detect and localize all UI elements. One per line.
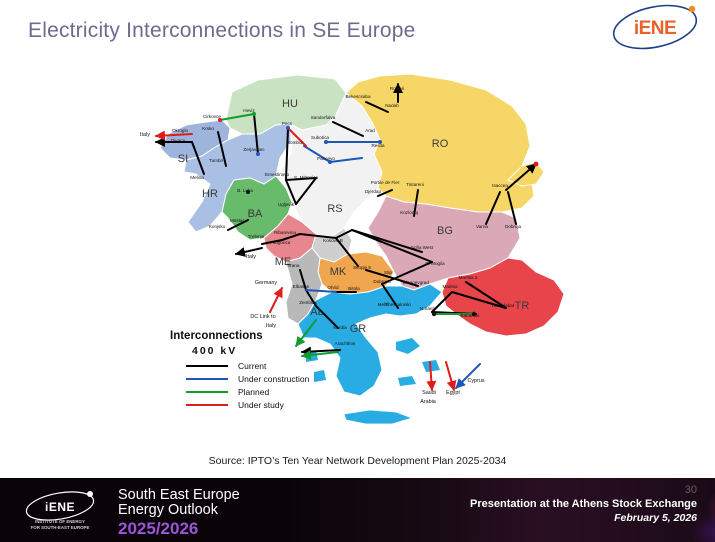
- map-legend: Interconnections 400 kV CurrentUnder con…: [170, 330, 320, 411]
- city-label-45: Babaeski: [461, 313, 480, 318]
- source-note: Source: IPTO’s Ten Year Network Developm…: [0, 455, 715, 467]
- city-label-34: Kosovo B: [323, 238, 343, 243]
- country-label-mk: MK: [330, 266, 347, 278]
- city-label-43: Hamidabat: [492, 303, 515, 308]
- city-label-50: Zemblak: [299, 300, 317, 305]
- legend-row-under-construction: Under construction: [170, 372, 320, 385]
- country-gr-island-3: [398, 376, 416, 386]
- city-label-7: Melina: [190, 175, 204, 180]
- svg-text:iENE: iENE: [634, 18, 676, 39]
- external-label-7: Egypt: [446, 390, 460, 396]
- country-label-al: AL: [310, 306, 323, 318]
- city-label-37: Dubrovo: [373, 279, 391, 284]
- city-label-44: N.Santa: [420, 306, 437, 311]
- city-label-35: Skopje 5: [353, 265, 371, 270]
- country-label-rs: RS: [327, 203, 342, 215]
- country-gr-crete: [344, 410, 412, 424]
- city-label-48: Tirana: [287, 263, 300, 268]
- footer-brand: South East Europe Energy Outlook 2025/20…: [118, 488, 240, 538]
- city-label-53: Kardia: [333, 325, 347, 330]
- country-label-ro: RO: [432, 138, 449, 150]
- legend-row-under-study: Under study: [170, 398, 320, 411]
- country-label-tr: TR: [515, 300, 530, 312]
- footer-brand-years: 2025/2026: [118, 520, 240, 538]
- line-germany-study: [270, 288, 282, 312]
- city-label-19: Arad: [365, 128, 375, 133]
- city-label-38: Sofia West: [411, 245, 434, 250]
- city-label-49: Elbasan: [293, 284, 310, 289]
- legend-row-planned: Planned: [170, 385, 320, 398]
- country-gr-island-1: [396, 338, 420, 354]
- footer-logo-sub1: INSTITUTE OF ENERGY: [35, 519, 85, 524]
- external-label-0: Italy: [140, 132, 150, 138]
- city-label-40: Blagoevgrad: [403, 280, 429, 285]
- legend-swatch-0: [186, 365, 228, 367]
- city-label-14: Pecs: [282, 121, 293, 126]
- city-label-52: Bitola: [348, 286, 360, 291]
- external-label-5: Saudi: [422, 390, 436, 396]
- legend-voltage: 400 kV: [192, 345, 320, 357]
- city-label-27: Tintareni: [406, 182, 424, 187]
- city-label-17: Nadab: [385, 103, 399, 108]
- city-label-12: Konjsko: [209, 224, 226, 229]
- city-label-10: Ugljevik: [278, 202, 295, 207]
- city-label-4: Heviz: [243, 108, 255, 113]
- external-label-8: Cyprus: [467, 378, 484, 384]
- legend-swatch-1: [186, 378, 228, 380]
- footer-logo-sub2: FOR SOUTH-EAST EUROPE: [31, 525, 90, 530]
- country-label-hr: HR: [202, 188, 218, 200]
- city-label-22: Resita: [371, 143, 384, 148]
- external-label-6: Arabia: [420, 399, 436, 405]
- city-label-16: Bekescsaba: [345, 94, 370, 99]
- city-label-24: S. Mitrovica: [294, 175, 318, 180]
- country-label-si: SI: [178, 153, 188, 165]
- iene-footer-logo-icon: iENE INSTITUTE OF ENERGY FOR SOUTH-EAST …: [18, 490, 110, 532]
- external-label-4: Italy: [266, 323, 276, 329]
- city-label-20: Sombor: [287, 140, 304, 145]
- footer-brand-line2: Energy Outlook: [118, 503, 240, 518]
- city-label-31: Dobruja: [505, 224, 522, 229]
- city-label-47: Thessaloniki: [385, 302, 411, 307]
- city-label-36: Stip: [384, 270, 392, 275]
- legend-swatch-3: [186, 404, 228, 406]
- external-label-2: Germany: [255, 280, 277, 286]
- page-title: Electricity Interconnections in SE Europ…: [28, 19, 416, 43]
- city-label-28: Kozloduj: [400, 210, 418, 215]
- city-label-54: Arachthos: [335, 341, 356, 346]
- footer-right: Presentation at the Athens Stock Exchang…: [470, 498, 697, 524]
- page-number: 30: [685, 484, 697, 496]
- presentation-title: Presentation at the Athens Stock Exchang…: [470, 498, 697, 510]
- city-label-25: Portile de Fier: [371, 180, 400, 185]
- country-label-bg: BG: [437, 225, 453, 237]
- slide-footer: iENE INSTITUTE OF ENERGY FOR SOUTH-EAST …: [0, 478, 715, 542]
- legend-label-3: Under study: [238, 400, 284, 410]
- city-label-33: Podgorica: [270, 240, 291, 245]
- city-label-51: Ohrid: [327, 285, 339, 290]
- legend-swatch-2: [186, 391, 228, 393]
- city-label-32: Ribarevina: [274, 230, 296, 235]
- country-label-hu: HU: [282, 98, 298, 110]
- country-label-ba: BA: [248, 208, 263, 220]
- city-label-41: Maritsa 3: [459, 275, 478, 280]
- presentation-date: February 5, 2026: [470, 512, 697, 524]
- city-label-26: Djerdap: [365, 189, 382, 194]
- city-label-3: Cirkovce: [203, 114, 221, 119]
- legend-label-0: Current: [238, 361, 266, 371]
- city-label-6: Zerjavinec: [243, 147, 265, 152]
- slide-header: Electricity Interconnections in SE Europ…: [0, 0, 715, 62]
- city-label-0: Okroglo: [172, 128, 189, 133]
- city-label-29: Isaccea: [492, 183, 508, 188]
- iene-logo-icon: iENE: [609, 3, 701, 51]
- city-label-11: Mostar: [230, 218, 245, 223]
- legend-label-2: Planned: [238, 387, 269, 397]
- city-label-42: Maritsa: [442, 284, 458, 289]
- city-label-13: Trebinje: [248, 234, 265, 239]
- external-label-3: DC Link to: [250, 314, 275, 320]
- city-label-9: Ernestinovo: [265, 172, 290, 177]
- city-label-15: Sandorfalva: [311, 115, 336, 120]
- city-label-23: Pancevo: [317, 156, 335, 161]
- city-label-8: B. Luka: [237, 188, 253, 193]
- legend-title: Interconnections: [170, 330, 320, 342]
- city-label-2: Krsko: [202, 126, 214, 131]
- city-label-18: Rosiori: [390, 86, 404, 91]
- city-label-5: Tumbri: [209, 158, 223, 163]
- line-egypt: [446, 362, 454, 390]
- svg-text:iENE: iENE: [45, 500, 75, 514]
- legend-label-1: Under construction: [238, 374, 309, 384]
- city-label-1: Divaca: [171, 138, 185, 143]
- city-label-21: Subotica: [311, 135, 329, 140]
- footer-brand-line1: South East Europe: [118, 488, 240, 503]
- external-label-1: Italy: [246, 254, 256, 260]
- country-label-gr: GR: [350, 323, 367, 335]
- legend-row-current: Current: [170, 359, 320, 372]
- line-cyprus: [456, 364, 480, 388]
- city-label-30: Varna: [476, 224, 488, 229]
- legend-items: CurrentUnder constructionPlannedUnder st…: [170, 359, 320, 411]
- city-label-39: C. Mogila: [425, 261, 445, 266]
